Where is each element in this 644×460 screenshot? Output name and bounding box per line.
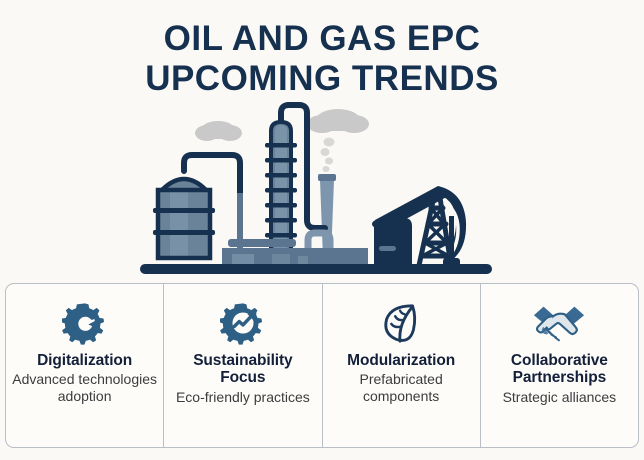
cloud-icon [195,121,242,141]
trend-card-collaborative-partnerships[interactable]: Collaborative Partnerships Strategic all… [481,284,638,447]
card-description: Prefabricated components [329,371,474,405]
handshake-icon [532,297,586,349]
trend-card-sustainability-focus[interactable]: Sustainability Focus Eco-friendly practi… [164,284,322,447]
leaf-icon [379,297,423,349]
oil-refinery-and-pumpjack-illustration [0,98,644,278]
card-description: Advanced technologies adoption [12,371,157,405]
cloud-icon [307,109,369,133]
smoke-puffs-icon [321,138,335,173]
trend-card-digitalization[interactable]: Digitalization Advanced technologies ado… [6,284,164,447]
trends-card-panel: Digitalization Advanced technologies ado… [5,283,639,448]
page-title: OIL AND GAS EPC UPCOMING TRENDS [0,20,644,98]
gear-refresh-icon [62,297,108,349]
card-title: Digitalization [37,352,132,369]
title-line-1: OIL AND GAS EPC [0,20,644,58]
card-description: Strategic alliances [503,389,617,406]
gear-growth-chart-icon [220,297,266,349]
storage-tank [153,155,240,258]
infographic-root: OIL AND GAS EPC UPCOMING TRENDS [0,0,644,460]
card-title: Collaborative Partnerships [487,352,632,387]
card-title: Sustainability Focus [170,352,315,387]
card-description: Eco-friendly practices [176,389,310,406]
card-title: Modularization [347,352,455,369]
trend-card-modularization[interactable]: Modularization Prefabricated components [323,284,481,447]
ground-bar [140,264,492,274]
title-line-2: UPCOMING TRENDS [0,60,644,98]
pumpjack [372,186,466,270]
